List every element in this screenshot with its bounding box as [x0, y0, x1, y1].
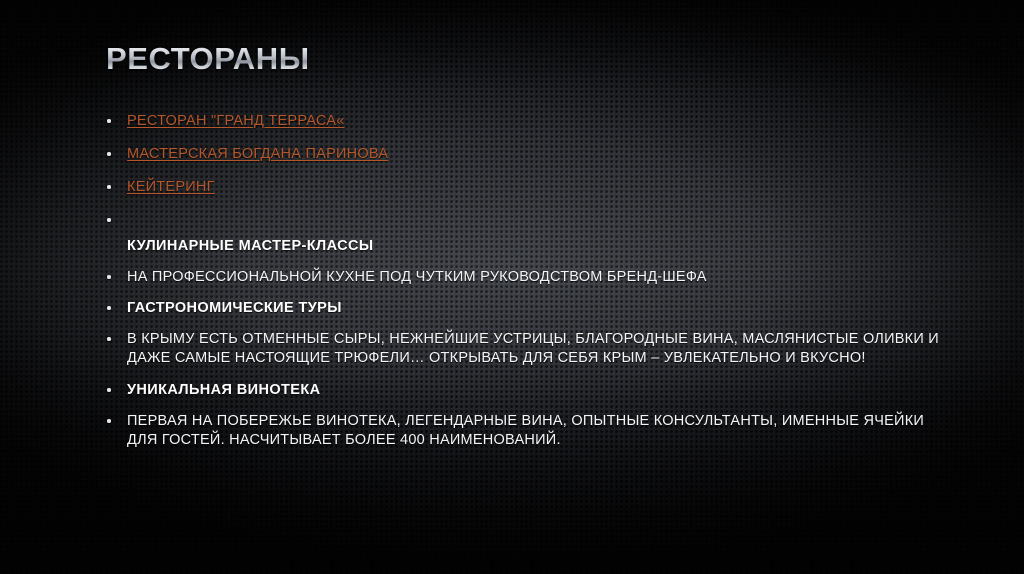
- slide-content: Рестораны Ресторан "Гранд Терраса« Масте…: [0, 0, 1024, 574]
- slide-body-list: Ресторан "Гранд Терраса« Мастерская Богд…: [100, 112, 940, 450]
- link-bogdan-parinov-workshop[interactable]: Мастерская Богдана Паринова: [127, 146, 388, 162]
- bullet-icon: [107, 306, 111, 310]
- slide-title: Рестораны: [106, 42, 966, 76]
- presentation-slide: Рестораны Ресторан "Гранд Терраса« Масте…: [0, 0, 1024, 574]
- heading-unique-vinotheque: Уникальная винотека: [127, 382, 321, 398]
- list-item-link-restaurant[interactable]: Ресторан "Гранд Терраса«: [100, 112, 940, 130]
- bullet-icon: [107, 119, 111, 123]
- list-item-heading-culinary-masterclasses: Кулинарные мастер-классы: [100, 237, 940, 255]
- list-item-link-catering[interactable]: Кейтеринг: [100, 178, 940, 196]
- paragraph-crimea-delicacies: В Крыму есть отменные сыры, нежнейшие ус…: [127, 331, 939, 366]
- list-item-paragraph-vinotheque-details: Первая на побережье винотека, легендарны…: [100, 412, 955, 450]
- list-item-link-workshop[interactable]: Мастерская Богдана Паринова: [100, 145, 940, 163]
- bullet-icon: [107, 337, 111, 341]
- bullet-icon: [107, 218, 111, 222]
- paragraph-vinotheque-details: Первая на побережье винотека, легендарны…: [127, 413, 924, 448]
- heading-culinary-masterclasses: Кулинарные мастер-классы: [127, 238, 373, 254]
- bullet-icon: [107, 419, 111, 423]
- list-item-paragraph-crimea-delicacies: В Крыму есть отменные сыры, нежнейшие ус…: [100, 330, 955, 368]
- heading-gastronomic-tours: Гастрономические туры: [127, 300, 342, 316]
- bullet-icon: [107, 185, 111, 189]
- bullet-icon: [107, 388, 111, 392]
- link-restaurant-grand-terrace[interactable]: Ресторан "Гранд Терраса«: [127, 113, 345, 129]
- bullet-icon: [107, 275, 111, 279]
- list-item-heading-unique-vinotheque: Уникальная винотека: [100, 381, 940, 399]
- list-item-paragraph-professional-kitchen: На профессиональной кухне под чутким рук…: [100, 268, 940, 286]
- bullet-icon: [107, 152, 111, 156]
- list-item-empty: [100, 211, 940, 229]
- paragraph-professional-kitchen: На профессиональной кухне под чутким рук…: [127, 269, 707, 285]
- link-catering[interactable]: Кейтеринг: [127, 179, 215, 195]
- list-item-heading-gastronomic-tours: Гастрономические туры: [100, 299, 940, 317]
